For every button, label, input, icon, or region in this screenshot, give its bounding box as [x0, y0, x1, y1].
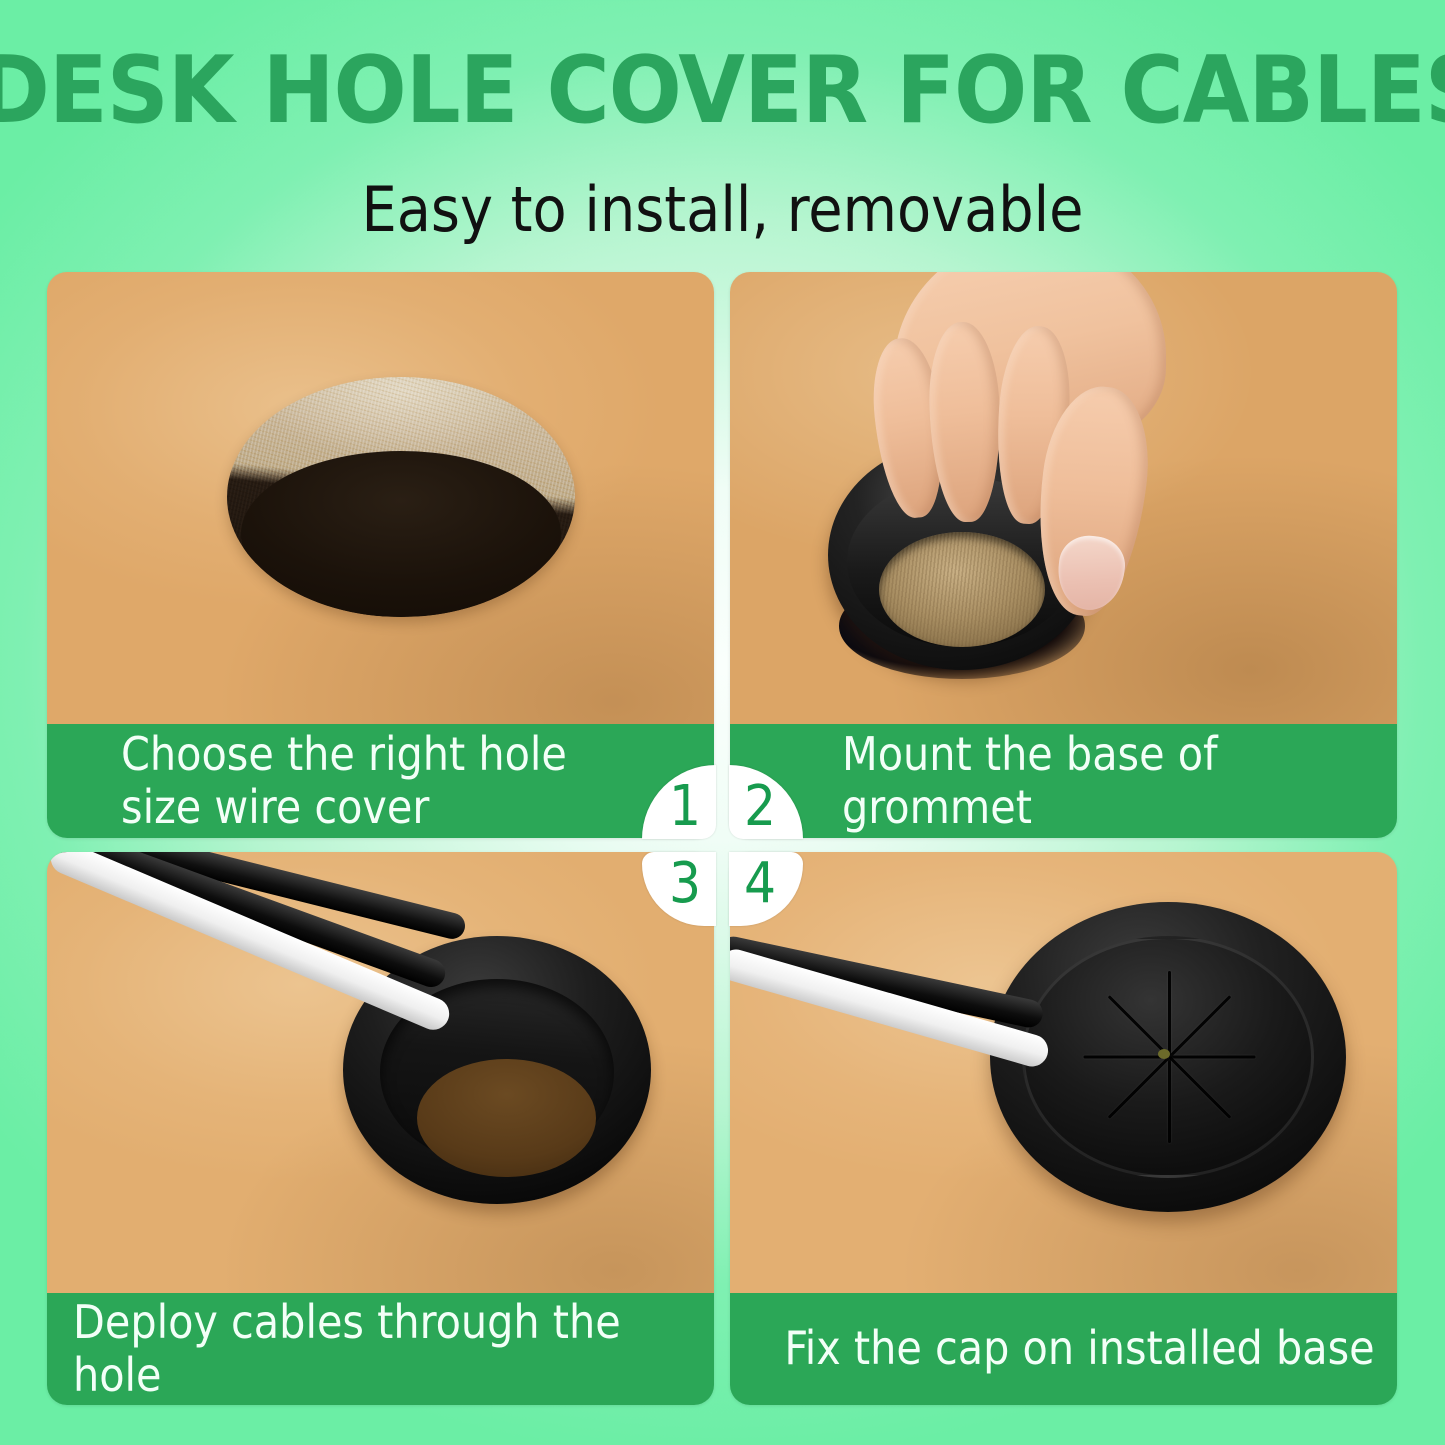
drilled-hole	[227, 377, 575, 617]
step-panel-1: Choose the right hole size wire cover	[47, 272, 714, 838]
step-2-caption: Mount the base of grommet	[730, 724, 1397, 838]
step-panel-2: Mount the base of grommet	[730, 272, 1397, 838]
step-4-caption: Fix the cap on installed base	[730, 1293, 1397, 1405]
hole-void	[241, 451, 561, 617]
page-subtitle: Easy to install, removable	[0, 176, 1445, 244]
page-title: DESK HOLE COVER FOR CABLES	[0, 44, 1445, 137]
cap-slit	[1168, 971, 1171, 1057]
hand-icon	[852, 272, 1182, 664]
cap-slit	[1168, 1057, 1171, 1143]
installed-grommet-base	[343, 936, 651, 1204]
step-2-caption-line-1: Mount the base of grommet	[842, 728, 1397, 835]
step-1-caption-line-1: Choose the right hole	[121, 728, 567, 781]
step-panel-4: Fix the cap on installed base	[730, 852, 1397, 1405]
step-3-caption: Deploy cables through the hole	[47, 1293, 714, 1405]
cap-slit	[1084, 1056, 1170, 1059]
step-3-caption-line-1: Deploy cables through the hole	[73, 1296, 714, 1403]
step-4-photo	[730, 852, 1397, 1293]
step-panel-3: Deploy cables through the hole	[47, 852, 714, 1405]
step-4-caption-line-1: Fix the cap on installed base	[784, 1322, 1374, 1375]
cap-slit	[1170, 1056, 1256, 1059]
cap-center-hub	[1158, 1049, 1170, 1059]
step-1-caption: Choose the right hole size wire cover	[47, 724, 714, 838]
step-3-photo	[47, 852, 714, 1293]
step-2-photo	[730, 272, 1397, 724]
step-1-caption-line-2: size wire cover	[121, 781, 567, 834]
step-1-photo	[47, 272, 714, 724]
hole-void	[417, 1059, 596, 1177]
